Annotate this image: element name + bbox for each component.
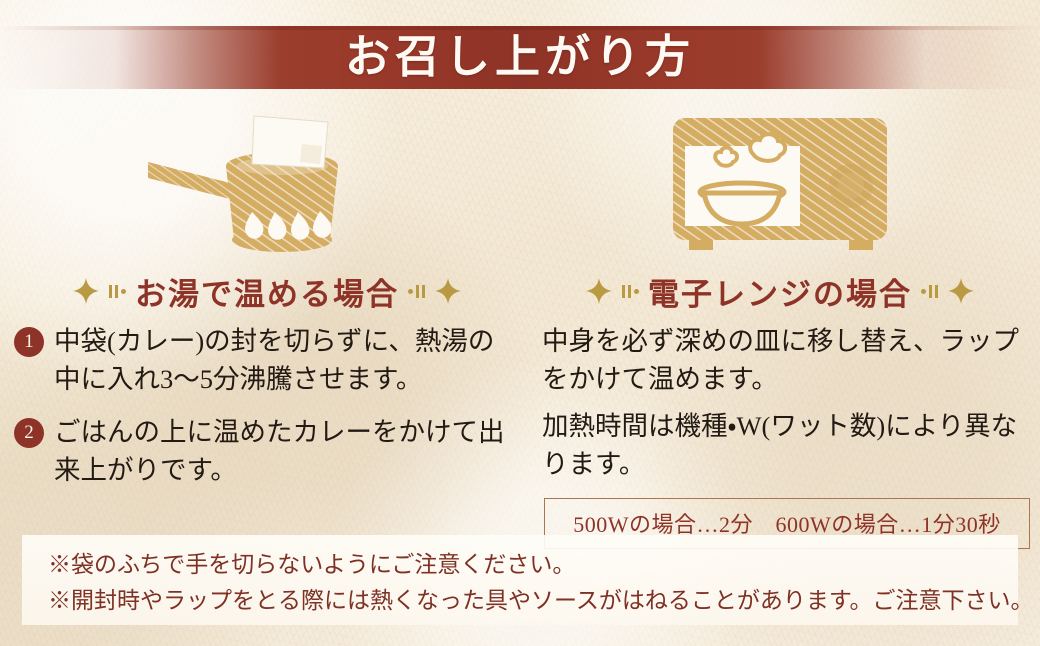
list-item: 2 ごはんの上に温めたカレーをかけて出来上がりです。 bbox=[14, 413, 520, 490]
steps-list: 1 中袋(カレー)の封を切らずに、熱湯の中に入れ3〜5分沸騰させます。 2 ごは… bbox=[14, 322, 520, 490]
step-text: 中袋(カレー)の封を切らずに、熱湯の中に入れ3〜5分沸騰させます。 bbox=[54, 322, 520, 399]
section-heading-label: 電子レンジの場合 bbox=[648, 269, 912, 314]
notice-panel: ※袋のふちで手を切らないようにご注意ください。 ※開封時やラップをとる際には熱く… bbox=[22, 535, 1018, 625]
section-hot-water: お湯で温める場合 1 中袋(カレー)の封を切らずに、熱湯の中に入れ3〜5分沸騰さ… bbox=[14, 100, 520, 504]
instructions-page: お召し上がり方 bbox=[0, 0, 1040, 646]
section-heading-microwave: 電子レンジの場合 bbox=[530, 268, 1030, 314]
tick-ornament-right-icon bbox=[921, 285, 938, 298]
microwave-oven-illustration bbox=[530, 100, 1030, 260]
saucepan-with-pouch-illustration bbox=[14, 100, 520, 260]
tick-ornament-left-icon bbox=[622, 285, 639, 298]
star-ornament-icon bbox=[947, 277, 975, 305]
step-number-badge: 2 bbox=[14, 418, 44, 448]
tick-ornament-left-icon bbox=[109, 285, 126, 298]
microwave-instruction-1: 中身を必ず深めの皿に移し替え、ラップをかけて温めます。 bbox=[542, 322, 1030, 399]
page-title: お召し上がり方 bbox=[345, 35, 695, 80]
section-microwave: 電子レンジの場合 中身を必ず深めの皿に移し替え、ラップをかけて温めます。 加熱時… bbox=[530, 100, 1030, 549]
section-heading-label: お湯で温める場合 bbox=[135, 269, 399, 314]
star-ornament-icon bbox=[585, 277, 613, 305]
notice-line: ※開封時やラップをとる際には熱くなった具やソースがはねることがあります。ご注意下… bbox=[48, 583, 1002, 619]
section-heading-hot-water: お湯で温める場合 bbox=[14, 268, 520, 314]
notice-line: ※袋のふちで手を切らないようにご注意ください。 bbox=[48, 547, 1002, 583]
step-number-badge: 1 bbox=[14, 327, 44, 357]
list-item: 1 中袋(カレー)の封を切らずに、熱湯の中に入れ3〜5分沸騰させます。 bbox=[14, 322, 520, 399]
title-banner: お召し上がり方 bbox=[0, 26, 1040, 89]
star-ornament-icon bbox=[434, 277, 462, 305]
tick-ornament-right-icon bbox=[408, 285, 425, 298]
star-ornament-icon bbox=[72, 277, 100, 305]
microwave-instruction-2: 加熱時間は機種・W(ワット数)により異なります。 bbox=[542, 407, 1030, 484]
step-text: ごはんの上に温めたカレーをかけて出来上がりです。 bbox=[54, 413, 520, 490]
